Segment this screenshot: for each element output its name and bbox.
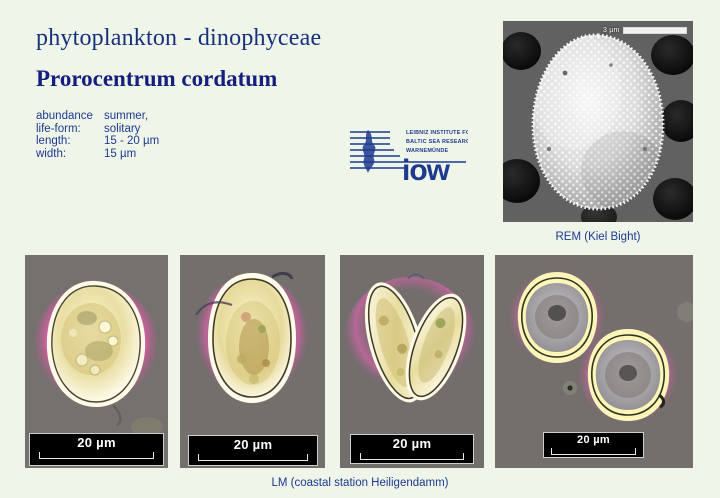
fact-row: width: 15 µm bbox=[36, 148, 159, 161]
lm-scale-label: 20 µm bbox=[77, 434, 116, 451]
rem-micrograph bbox=[503, 21, 693, 222]
logo-line-1: LEIBNIZ INSTITUTE FOR bbox=[406, 130, 468, 136]
fact-label: length: bbox=[36, 135, 104, 148]
rem-caption: REM (Kiel Bight) bbox=[503, 231, 693, 243]
fact-value: solitary bbox=[104, 123, 159, 136]
fact-row: abundance summer, bbox=[36, 110, 159, 123]
lm-scale-label: 20 µm bbox=[393, 435, 432, 452]
species-title: Prorocentrum cordatum bbox=[36, 66, 277, 92]
logo-line-3: WARNEMÜNDE bbox=[406, 147, 448, 154]
lm-panel-1: 20 µm bbox=[25, 255, 168, 468]
lm-scale-bar: 20 µm bbox=[29, 433, 164, 466]
fact-value: 15 µm bbox=[104, 148, 159, 161]
rem-image: 3 µm bbox=[503, 21, 693, 222]
lm-scale-rule bbox=[39, 452, 153, 459]
iow-logo: LEIBNIZ INSTITUTE FOR BALTIC SEA RESEARC… bbox=[348, 126, 468, 184]
fact-list: abundance summer, life-form: solitary le… bbox=[36, 110, 159, 160]
lm-scale-rule bbox=[198, 454, 308, 461]
fact-value: 15 - 20 µm bbox=[104, 135, 159, 148]
lm-scale-bar: 20 µm bbox=[350, 434, 474, 464]
lm-scale-rule bbox=[360, 453, 465, 460]
rem-scale-label: 3 µm bbox=[603, 27, 620, 34]
lm-scale-label: 20 µm bbox=[234, 436, 273, 453]
lm-scale-label: 20 µm bbox=[577, 433, 610, 447]
rem-scale-rule bbox=[623, 27, 687, 34]
fact-label: life-form: bbox=[36, 123, 104, 136]
slide-canvas: phytoplankton - dinophyceae Prorocentrum… bbox=[0, 0, 720, 498]
group-title: phytoplankton - dinophyceae bbox=[36, 25, 321, 52]
fact-label: abundance bbox=[36, 110, 104, 123]
lm-panel-4: 20 µm bbox=[495, 255, 693, 468]
lm-scale-rule bbox=[551, 448, 636, 455]
fact-row: length: 15 - 20 µm bbox=[36, 135, 159, 148]
logo-wordmark: iow bbox=[402, 154, 451, 184]
rem-scale-bar: 3 µm bbox=[603, 24, 687, 36]
logo-line-2: BALTIC SEA RESEARCH bbox=[406, 139, 468, 145]
fact-label: width: bbox=[36, 148, 104, 161]
fact-value: summer, bbox=[104, 110, 159, 123]
lm-panel-2: 20 µm bbox=[180, 255, 325, 468]
lm-caption: LM (coastal station Heiligendamm) bbox=[0, 477, 720, 489]
lm-scale-bar: 20 µm bbox=[188, 435, 318, 466]
lm-panel-row: 20 µm bbox=[0, 255, 720, 469]
lm-panel-3: 20 µm bbox=[340, 255, 484, 468]
fact-row: life-form: solitary bbox=[36, 123, 159, 136]
lm-scale-bar: 20 µm bbox=[543, 432, 644, 458]
